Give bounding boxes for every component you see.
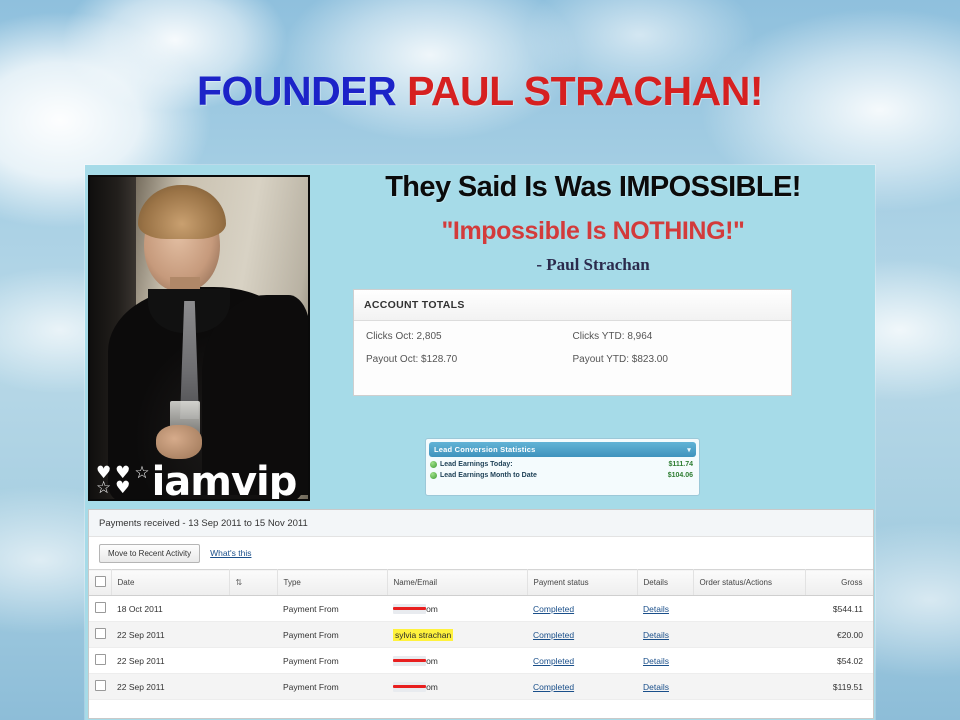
row-date: 22 Sep 2011 [111,674,229,700]
panel-heading-quote: "Impossible Is NOTHING!" [315,217,871,246]
account-totals-row: Payout Oct: $128.70 Payout YTD: $823.00 [366,354,779,365]
whats-this-link[interactable]: What's this [210,548,251,558]
row-sort-spacer [229,596,277,622]
row-name-redacted [393,656,426,666]
account-totals-row: Clicks Oct: 2,805 Clicks YTD: 8,964 [366,331,779,342]
payment-status-link[interactable]: Completed [533,682,574,692]
page-title: FOUNDER PAUL STRACHAN! [0,68,960,115]
green-bullet-icon [430,472,437,479]
row-details[interactable]: Details [637,622,693,648]
table-header-row: Date ⇅ Type Name/Email Payment status De… [89,570,873,596]
payment-status-link[interactable]: Completed [533,630,574,640]
row-type: Payment From [277,596,387,622]
row-name-redacted [393,604,426,614]
row-checkbox[interactable] [95,654,106,665]
column-order-status-actions[interactable]: Order status/Actions [693,570,805,596]
row-name-email: om [387,596,527,622]
account-totals-card: ACCOUNT TOTALS Clicks Oct: 2,805 Clicks … [353,289,792,396]
founder-photo: ♥ ♥ ☆ ☆ ♥ iamvip [88,175,310,501]
row-name-email: om [387,648,527,674]
lead-earnings-mtd-amount: $104.06 [668,472,693,479]
row-select-cell[interactable] [89,648,111,674]
row-select-cell[interactable] [89,596,111,622]
details-link[interactable]: Details [643,630,669,640]
table-row[interactable]: 18 Oct 2011Payment From omCompletedDetai… [89,596,873,622]
lead-conversion-widget: Lead Conversion Statistics ▾ Lead Earnin… [425,438,700,496]
payments-actions-bar: Move to Recent Activity What's this [89,537,873,569]
row-gross: $544.11 [805,596,873,622]
sort-icon[interactable]: ⇅ [236,578,243,587]
lead-conversion-title: Lead Conversion Statistics [434,445,535,454]
row-sort-spacer [229,674,277,700]
payments-panel: Payments received - 13 Sep 2011 to 15 No… [88,509,874,719]
row-order-actions [693,622,805,648]
column-name-email[interactable]: Name/Email [387,570,527,596]
row-order-actions [693,674,805,700]
payout-oct-value: Payout Oct: $128.70 [366,354,573,365]
row-payment-status[interactable]: Completed [527,648,637,674]
payments-title: Payments received - 13 Sep 2011 to 15 No… [99,518,308,529]
table-row[interactable]: 22 Sep 2011Payment From omCompletedDetai… [89,674,873,700]
iamvip-watermark: ♥ ♥ ☆ ☆ ♥ iamvip [96,437,308,501]
row-type: Payment From [277,674,387,700]
select-all-checkbox[interactable] [95,576,106,587]
clicks-oct-value: Clicks Oct: 2,805 [366,331,573,342]
row-name-suffix: om [426,604,438,614]
row-checkbox[interactable] [95,628,106,639]
payment-status-link[interactable]: Completed [533,604,574,614]
row-name-highlighted: sylvia strachan [393,629,453,641]
row-gross: $54.02 [805,648,873,674]
row-type: Payment From [277,648,387,674]
select-all-header[interactable] [89,570,111,596]
clicks-ytd-value: Clicks YTD: 8,964 [573,331,780,342]
green-bullet-icon [430,461,437,468]
row-checkbox[interactable] [95,602,106,613]
row-date: 22 Sep 2011 [111,622,229,648]
payments-table-body: 18 Oct 2011Payment From omCompletedDetai… [89,596,873,700]
account-totals-header: ACCOUNT TOTALS [354,290,791,321]
lead-earnings-today-label-wrap: Lead Earnings Today: [430,461,513,468]
row-order-actions [693,648,805,674]
row-select-cell[interactable] [89,622,111,648]
row-name-redacted [393,682,426,692]
details-link[interactable]: Details [643,682,669,692]
column-date[interactable]: Date [111,570,229,596]
row-details[interactable]: Details [637,674,693,700]
payment-status-link[interactable]: Completed [533,656,574,666]
row-sort-spacer [229,648,277,674]
payments-table: Date ⇅ Type Name/Email Payment status De… [89,569,874,700]
chevron-down-icon[interactable]: ▾ [687,446,691,454]
details-link[interactable]: Details [643,656,669,666]
row-name-suffix: om [426,656,438,666]
table-row[interactable]: 22 Sep 2011Payment Fromsylvia strachanCo… [89,622,873,648]
column-details[interactable]: Details [637,570,693,596]
lead-earnings-today-row: Lead Earnings Today: $111.74 [429,461,696,468]
heart-star-icon: ♥ ♥ ☆ ☆ ♥ [96,465,150,497]
row-select-cell[interactable] [89,674,111,700]
lead-earnings-today-label: Lead Earnings Today: [440,461,513,468]
column-payment-status[interactable]: Payment status [527,570,637,596]
lead-earnings-mtd-label: Lead Earnings Month to Date [440,472,537,479]
lead-conversion-header[interactable]: Lead Conversion Statistics ▾ [429,442,696,457]
lead-earnings-today-amount: $111.74 [668,461,693,468]
row-payment-status[interactable]: Completed [527,596,637,622]
row-payment-status[interactable]: Completed [527,674,637,700]
row-checkbox[interactable] [95,680,106,691]
row-name-email: om [387,674,527,700]
row-details[interactable]: Details [637,596,693,622]
account-totals-title: ACCOUNT TOTALS [364,299,465,311]
content-panel: ♥ ♥ ☆ ☆ ♥ iamvip They Said Is Was IMPOSS… [85,165,875,720]
row-details[interactable]: Details [637,648,693,674]
iamvip-watermark-text: iamvip [152,464,297,501]
details-link[interactable]: Details [643,604,669,614]
payout-ytd-value: Payout YTD: $823.00 [573,354,780,365]
move-to-recent-activity-button[interactable]: Move to Recent Activity [99,544,200,563]
column-sort[interactable]: ⇅ [229,570,277,596]
row-name-suffix: om [426,682,438,692]
row-date: 18 Oct 2011 [111,596,229,622]
lead-earnings-mtd-label-wrap: Lead Earnings Month to Date [430,472,537,479]
page-title-founder: FOUNDER [197,68,396,114]
row-sort-spacer [229,622,277,648]
account-totals-body: Clicks Oct: 2,805 Clicks YTD: 8,964 Payo… [354,321,791,365]
row-gross: $119.51 [805,674,873,700]
row-type: Payment From [277,622,387,648]
payments-title-bar: Payments received - 13 Sep 2011 to 15 No… [89,510,873,537]
row-name-email: sylvia strachan [387,622,527,648]
row-payment-status[interactable]: Completed [527,622,637,648]
panel-heading-main: They Said Is Was IMPOSSIBLE! [315,171,871,204]
page-title-name: PAUL STRACHAN! [407,68,763,114]
row-date: 22 Sep 2011 [111,648,229,674]
column-gross[interactable]: Gross [805,570,873,596]
table-row[interactable]: 22 Sep 2011Payment From omCompletedDetai… [89,648,873,674]
row-order-actions [693,596,805,622]
row-gross: €20.00 [805,622,873,648]
panel-heading-attribution: - Paul Strachan [315,255,871,275]
lead-earnings-mtd-row: Lead Earnings Month to Date $104.06 [429,472,696,479]
column-type[interactable]: Type [277,570,387,596]
